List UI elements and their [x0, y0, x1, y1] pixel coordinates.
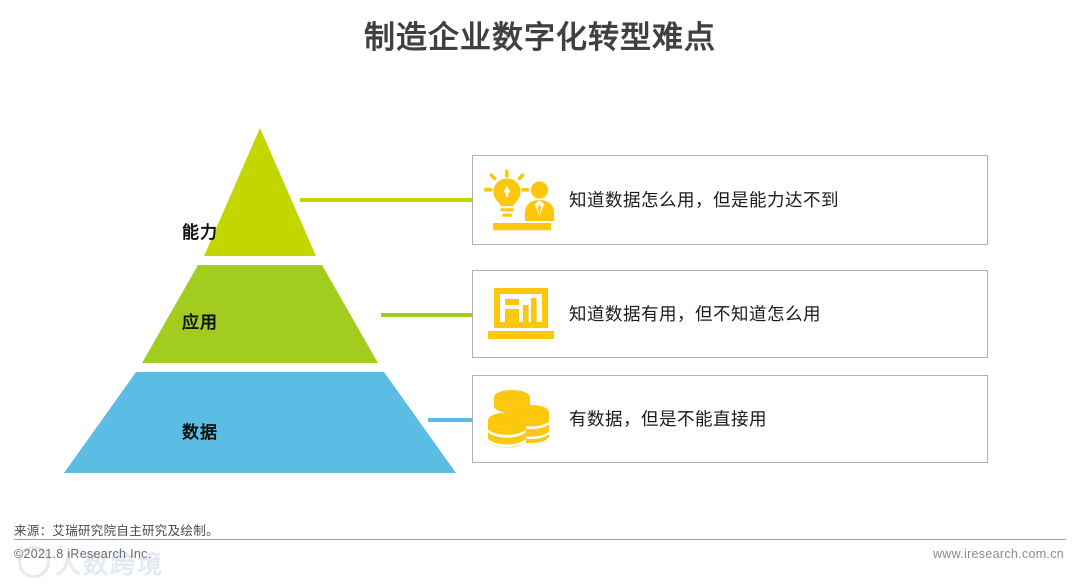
pyramid-tier-data: [64, 372, 456, 473]
callout-text-capability: 知道数据怎么用，但是能力达不到: [569, 187, 839, 213]
callout-card-data: 有数据，但是不能直接用: [472, 375, 988, 463]
footer-url: www.iresearch.com.cn: [933, 547, 1064, 561]
database-stack-icon: [473, 376, 569, 462]
callout-card-capability: 知道数据怎么用，但是能力达不到: [472, 155, 988, 245]
pyramid-label-application: 应用: [145, 308, 255, 333]
callout-text-data: 有数据，但是不能直接用: [569, 406, 767, 432]
footer-copyright: ©2021.8 iResearch Inc.: [14, 547, 151, 561]
laptop-chart-icon: [473, 271, 569, 357]
pyramid-diagram: [58, 128, 463, 478]
connector-line-application: [381, 313, 476, 317]
footer-source: 来源：艾瑞研究院自主研究及绘制。: [14, 520, 219, 539]
pyramid-label-data: 数据: [145, 418, 255, 443]
lightbulb-person-icon: [473, 156, 569, 244]
callout-text-application: 知道数据有用，但不知道怎么用: [569, 301, 821, 327]
callout-card-application: 知道数据有用，但不知道怎么用: [472, 270, 988, 358]
pyramid-label-capability: 能力: [145, 218, 255, 243]
footer-divider: [14, 539, 1066, 540]
page-title: 制造企业数字化转型难点: [0, 16, 1080, 60]
connector-line-capability: [300, 198, 476, 202]
connector-line-data: [428, 418, 476, 422]
